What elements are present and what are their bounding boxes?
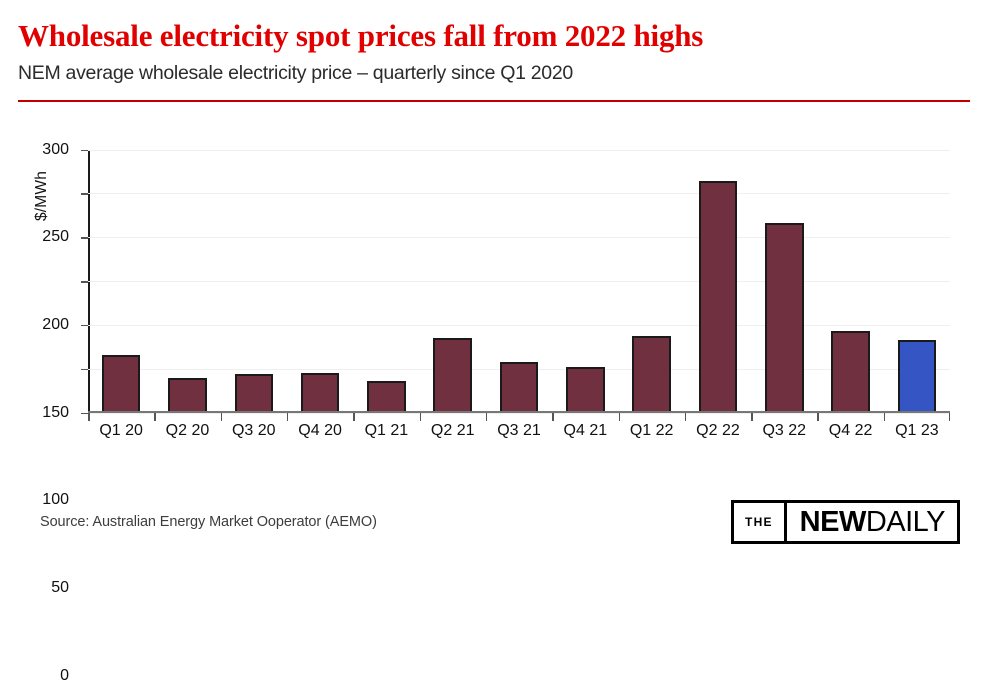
y-axis-tick: 150 xyxy=(81,281,88,283)
x-axis-label: Q1 23 xyxy=(884,422,950,440)
x-axis-label: Q3 22 xyxy=(751,422,817,440)
bar-slot xyxy=(817,150,883,413)
y-axis-tick: 250 xyxy=(81,193,88,195)
x-axis-tick xyxy=(154,413,156,421)
bar-slot xyxy=(221,150,287,413)
bar-q1-23[interactable] xyxy=(898,340,936,413)
x-axis-tick xyxy=(353,413,355,421)
x-tick-slot xyxy=(420,413,486,421)
x-axis-tick xyxy=(486,413,488,421)
bar-slot xyxy=(486,150,552,413)
x-axis-tick xyxy=(287,413,289,421)
bar-q2-20[interactable] xyxy=(168,378,206,412)
y-axis-label: 0 xyxy=(60,667,69,685)
chart-header: Wholesale electricity spot prices fall f… xyxy=(0,0,988,102)
bar-q3-22[interactable] xyxy=(765,223,803,412)
bar-q4-22[interactable] xyxy=(831,331,869,413)
logo-wordmark: NEWDAILY xyxy=(787,503,957,541)
x-axis-tick xyxy=(88,413,90,421)
bar-slot xyxy=(88,150,154,413)
y-axis-label: 200 xyxy=(42,316,69,334)
x-axis-label: Q3 20 xyxy=(221,422,287,440)
bar-q3-20[interactable] xyxy=(235,374,273,413)
x-axis-tick xyxy=(949,413,951,421)
x-axis-tick xyxy=(552,413,554,421)
bar-q4-21[interactable] xyxy=(566,367,604,413)
y-axis-tick: 200 xyxy=(81,237,88,239)
x-axis-tick xyxy=(884,413,886,421)
source-note: Source: Australian Energy Market Ooperat… xyxy=(40,514,377,530)
x-axis-label: Q3 21 xyxy=(486,422,552,440)
x-axis-label: Q4 21 xyxy=(552,422,618,440)
x-tick-slot xyxy=(619,413,685,421)
x-axis-tick xyxy=(221,413,223,421)
x-tick-slot xyxy=(552,413,618,421)
y-axis-tick: 50 xyxy=(81,369,88,371)
x-tick-slot xyxy=(685,413,751,421)
bar-slot xyxy=(552,150,618,413)
x-axis-label: Q1 20 xyxy=(88,422,154,440)
logo-daily-text: DAILY xyxy=(866,508,945,537)
logo-the-text: THE xyxy=(734,503,787,541)
bar-slot xyxy=(619,150,685,413)
x-tick-slot xyxy=(817,413,883,421)
chart-container: $/MWh 050100150200250300 Q1 20Q2 20Q3 20… xyxy=(0,102,988,442)
chart-subtitle: NEM average wholesale electricity price … xyxy=(18,62,970,85)
y-axis-label: 50 xyxy=(51,579,69,597)
bar-q1-20[interactable] xyxy=(102,355,140,413)
bar-q3-21[interactable] xyxy=(500,362,538,413)
x-axis-label: Q2 22 xyxy=(685,422,751,440)
x-axis-labels: Q1 20Q2 20Q3 20Q4 20Q1 21Q2 21Q3 21Q4 21… xyxy=(88,422,950,440)
page-title: Wholesale electricity spot prices fall f… xyxy=(18,20,970,53)
x-axis-tick xyxy=(420,413,422,421)
x-axis-tick xyxy=(751,413,753,421)
plot-area: 050100150200250300 xyxy=(88,150,950,413)
bar-series xyxy=(88,150,950,413)
x-axis-label: Q1 22 xyxy=(619,422,685,440)
bar-slot xyxy=(154,150,220,413)
x-axis-label: Q4 20 xyxy=(287,422,353,440)
x-tick-slot xyxy=(221,413,287,421)
chart-footer: Source: Australian Energy Market Ooperat… xyxy=(0,492,988,570)
bar-q2-21[interactable] xyxy=(433,338,471,413)
x-axis-label: Q2 20 xyxy=(154,422,220,440)
y-axis-tick: 300 xyxy=(81,150,88,152)
x-axis-tick xyxy=(685,413,687,421)
y-axis-tick: 100 xyxy=(81,325,88,327)
x-tick-slot xyxy=(88,413,154,421)
x-tick-slot xyxy=(154,413,220,421)
y-axis-label: 150 xyxy=(42,404,69,422)
bar-q4-20[interactable] xyxy=(301,373,339,412)
the-new-daily-logo: THE NEWDAILY xyxy=(731,500,960,544)
bar-q2-22[interactable] xyxy=(699,181,737,412)
x-tick-slot xyxy=(287,413,353,421)
y-axis-label: 250 xyxy=(42,228,69,246)
bar-q1-21[interactable] xyxy=(367,381,405,413)
y-axis-label: 300 xyxy=(42,141,69,159)
x-tick-slot xyxy=(486,413,552,421)
x-axis-ticks xyxy=(88,413,950,421)
bar-q1-22[interactable] xyxy=(632,336,670,412)
x-tick-slot xyxy=(751,413,817,421)
bar-slot xyxy=(685,150,751,413)
x-axis-label: Q2 21 xyxy=(420,422,486,440)
x-axis-tick xyxy=(817,413,819,421)
x-tick-slot xyxy=(884,413,950,421)
bar-slot xyxy=(353,150,419,413)
x-axis-tick xyxy=(619,413,621,421)
bar-slot xyxy=(287,150,353,413)
x-axis-label: Q1 21 xyxy=(353,422,419,440)
bar-slot xyxy=(751,150,817,413)
y-axis-tick: 0 xyxy=(81,413,88,415)
logo-new-text: NEW xyxy=(800,508,866,537)
x-axis-label: Q4 22 xyxy=(817,422,883,440)
bar-slot xyxy=(420,150,486,413)
x-tick-slot xyxy=(353,413,419,421)
bar-slot xyxy=(884,150,950,413)
